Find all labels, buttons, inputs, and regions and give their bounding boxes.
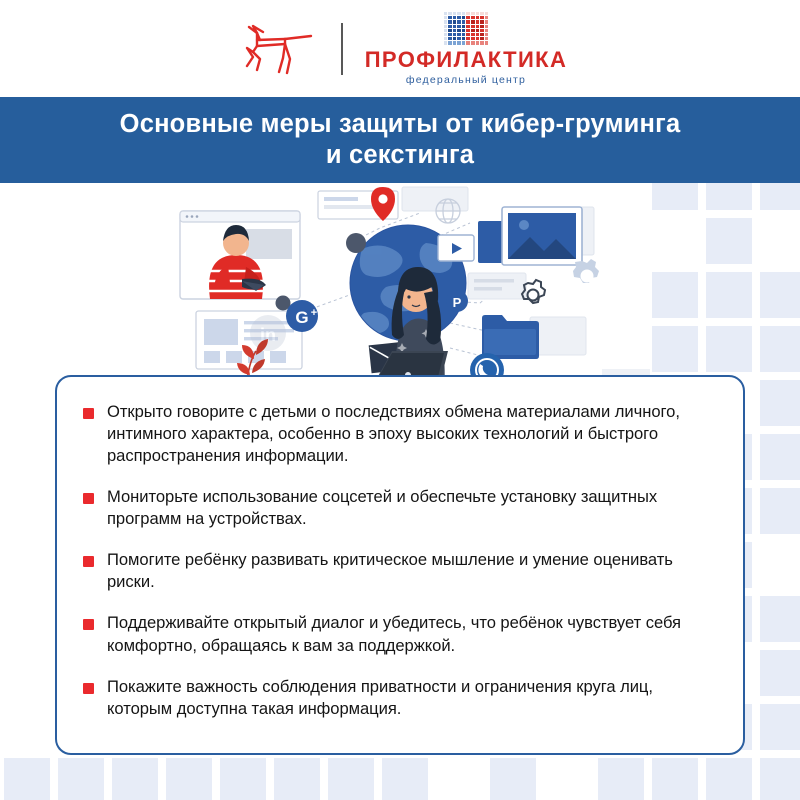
dot-icon	[346, 233, 366, 253]
list-item-text: Помогите ребёнку развивать критическое м…	[107, 549, 715, 593]
list-item-text: Открыто говорите с детьми о последствиях…	[107, 401, 715, 467]
logo-subtitle: федеральный центр	[406, 75, 526, 86]
list-item: Открыто говорите с детьми о последствиях…	[83, 401, 715, 467]
list-item-text: Поддерживайте открытый диалог и убедитес…	[107, 612, 715, 656]
logo-word: ПРОФИЛАКТИКА	[365, 49, 568, 71]
recommendations-card: Открыто говорите с детьми о последствиях…	[55, 375, 745, 755]
hero-illustration: G + in P	[150, 183, 650, 398]
bullet-square-icon	[83, 619, 94, 630]
bullet-square-icon	[83, 408, 94, 419]
bullet-square-icon	[83, 556, 94, 567]
list-item-text: Мониторьте использование соцсетей и обес…	[107, 486, 715, 530]
logo-bar: ПРОФИЛАКТИКА федеральный центр	[0, 0, 800, 97]
list-item: Поддерживайте открытый диалог и убедитес…	[83, 612, 715, 656]
page-title-line1: Основные меры защиты от кибер-груминга	[120, 110, 681, 138]
list-item: Мониторьте использование соцсетей и обес…	[83, 486, 715, 530]
page-title: Основные меры защиты от кибер-груминга и…	[40, 109, 760, 170]
list-item: Помогите ребёнку развивать критическое м…	[83, 549, 715, 593]
page-title-line2: и секстинга	[40, 140, 760, 171]
red-deer-line-drawing-icon	[233, 14, 319, 84]
list-item: Покажите важность соблюдения приватности…	[83, 676, 715, 720]
svg-text:P: P	[453, 295, 462, 310]
list-item-text: Покажите важность соблюдения приватности…	[107, 676, 715, 720]
svg-text:+: +	[311, 307, 317, 319]
bullet-list: Открыто говорите с детьми о последствиях…	[83, 401, 715, 720]
poster-root: ПРОФИЛАКТИКА федеральный центр Основные …	[0, 0, 800, 800]
logo-wordmark: ПРОФИЛАКТИКА федеральный центр	[365, 12, 568, 85]
bullet-square-icon	[83, 493, 94, 504]
blue-red-square-grid-icon	[444, 12, 489, 45]
logo-divider-icon	[341, 23, 343, 75]
bullet-square-icon	[83, 683, 94, 694]
title-band: Основные меры защиты от кибер-груминга и…	[0, 97, 800, 183]
svg-text:G: G	[295, 308, 308, 327]
